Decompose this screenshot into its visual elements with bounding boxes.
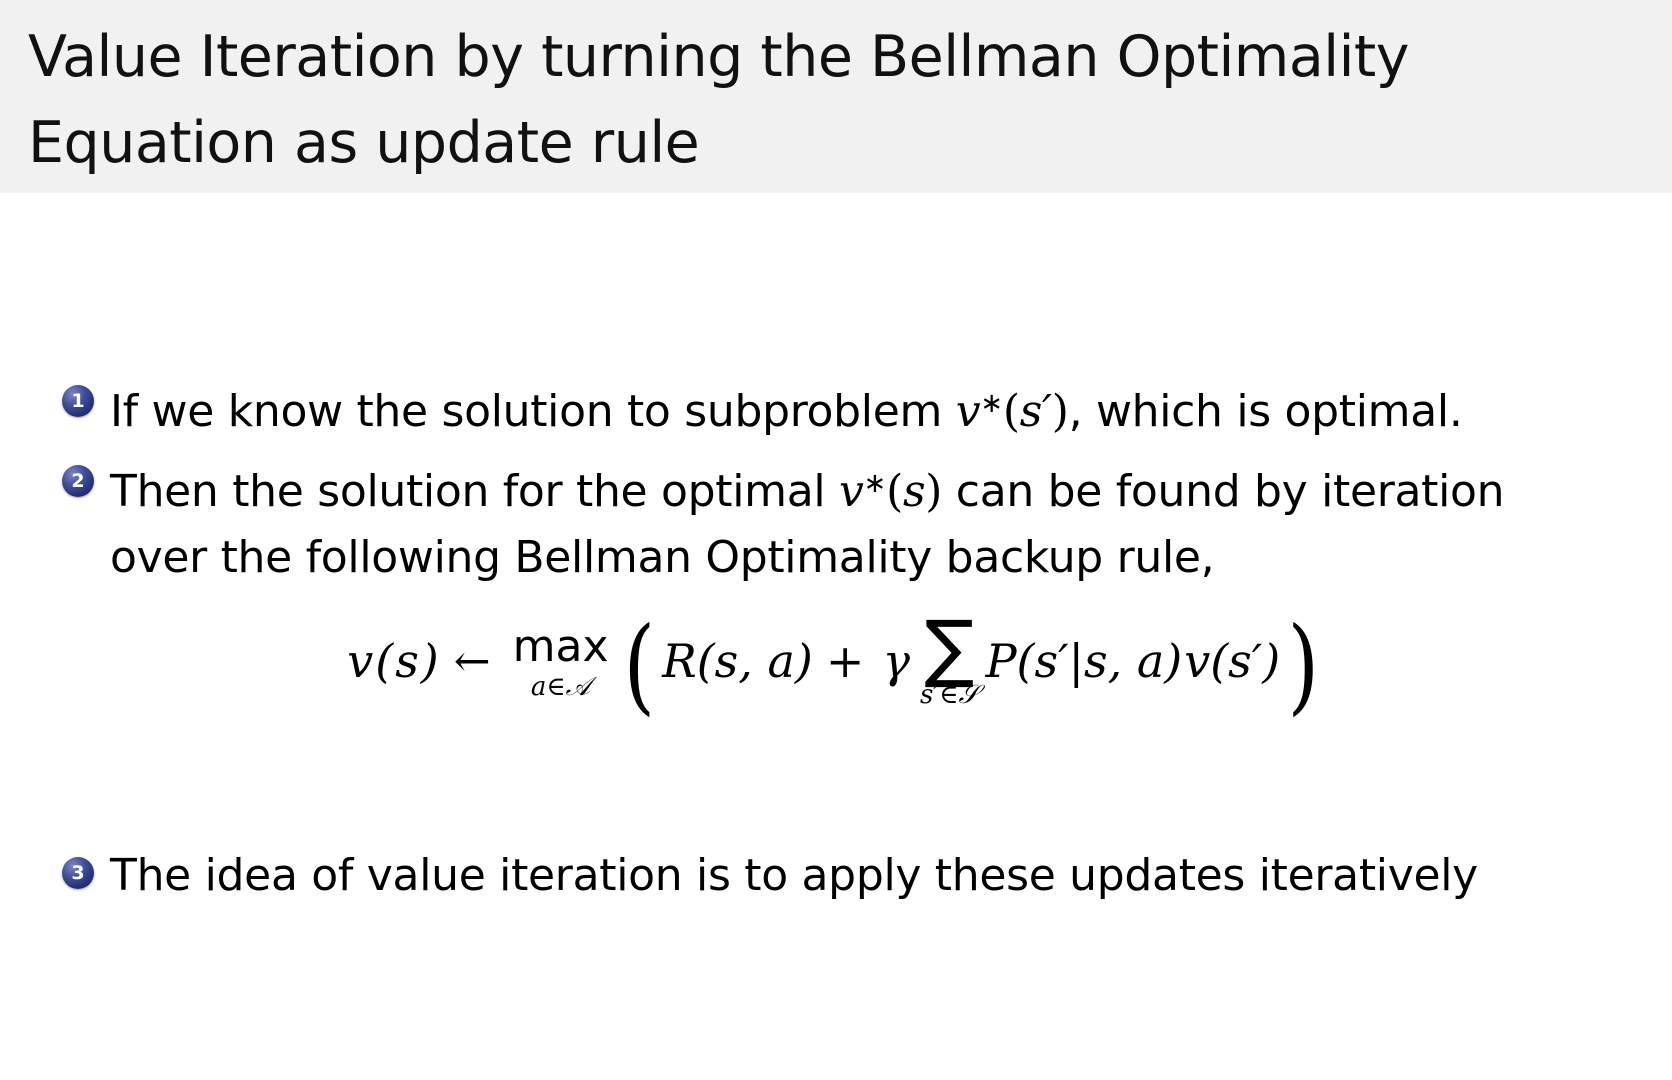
list-item: 1 If we know the solution to subproblem … [62, 371, 1622, 445]
list-item: 2 Then the solution for the optimal v∗(s… [62, 451, 1622, 591]
item2-text-line2: over the following Bellman Optimality ba… [110, 532, 1214, 583]
equation-lhs-arg: s [394, 634, 420, 688]
page-title: Value Iteration by turning the Bellman O… [28, 14, 1498, 186]
list-item-text-3: The idea of value iteration is to apply … [110, 843, 1622, 909]
assignment-arrow-icon: ← [440, 636, 505, 687]
next-state-value-term: v(s′) [1183, 634, 1281, 688]
equation-lhs-paren-close: ) [420, 634, 440, 688]
item1-text-before: If we know the solution to subproblem [110, 386, 956, 437]
item1-math-paren-close: ) [1052, 386, 1069, 437]
enum-marker-1: 1 [62, 385, 94, 417]
item2-math-paren-close: ) [925, 466, 942, 517]
item2-math-paren-open: ( [886, 466, 903, 517]
item1-math-v: v [956, 386, 981, 437]
display-equation-row: v(s) ← max a∈𝒜 ( R(s, a) + γ ∑ s′∈𝒮 P(s′… [0, 613, 1672, 709]
list-item: 3 The idea of value iteration is to appl… [62, 843, 1622, 909]
max-sub-action-set: 𝒜 [566, 672, 591, 702]
sum-sub-element-of-icon: ∈ [939, 680, 958, 710]
sum-sub-state-set: 𝒮 [958, 680, 978, 710]
sum-subscript: s′∈𝒮 [920, 681, 979, 709]
discount-factor-gamma: γ [876, 634, 914, 688]
item2-text-before: Then the solution for the optimal [110, 466, 839, 517]
item1-math-paren-open: ( [1003, 386, 1020, 437]
reward-term: R(s, a) [661, 634, 814, 688]
enumerated-list: 1 If we know the solution to subproblem … [62, 371, 1622, 597]
summation-operator: ∑ s′∈𝒮 [914, 613, 985, 709]
plus-operator-icon: + [814, 634, 877, 688]
item2-math-star: ∗ [864, 468, 887, 499]
item2-math-v: v [839, 466, 864, 517]
equation-lhs-v: v [346, 634, 374, 688]
item1-text-after: , which is optimal. [1069, 386, 1463, 437]
enum-marker-2: 2 [62, 465, 94, 497]
sigma-icon: ∑ [924, 613, 974, 683]
item2-text-after: can be found by iteration [942, 466, 1504, 517]
transition-probability-term: P(s′|s, a) [985, 634, 1184, 688]
max-subscript: a∈𝒜 [531, 673, 590, 701]
equation-lhs-paren-open: ( [374, 634, 394, 688]
max-label: max [513, 622, 609, 672]
max-operator: max a∈𝒜 [505, 622, 617, 701]
max-sub-var: a [531, 672, 547, 702]
item1-math-arg: s′ [1020, 386, 1052, 437]
sum-sub-var: s′ [920, 680, 939, 710]
bellman-optimality-backup-equation: v(s) ← max a∈𝒜 ( R(s, a) + γ ∑ s′∈𝒮 P(s′… [346, 613, 1326, 709]
slide-title-band: Value Iteration by turning the Bellman O… [0, 0, 1672, 193]
max-sub-element-of-icon: ∈ [546, 672, 565, 702]
enum-marker-3: 3 [62, 857, 94, 889]
list-item-text-1: If we know the solution to subproblem v∗… [110, 371, 1622, 445]
item1-math-star: ∗ [980, 388, 1003, 419]
list-item-text-2: Then the solution for the optimal v∗(s) … [110, 451, 1622, 591]
slide-body: 1 If we know the solution to subproblem … [0, 193, 1672, 1080]
item2-math-arg: s [903, 466, 925, 517]
